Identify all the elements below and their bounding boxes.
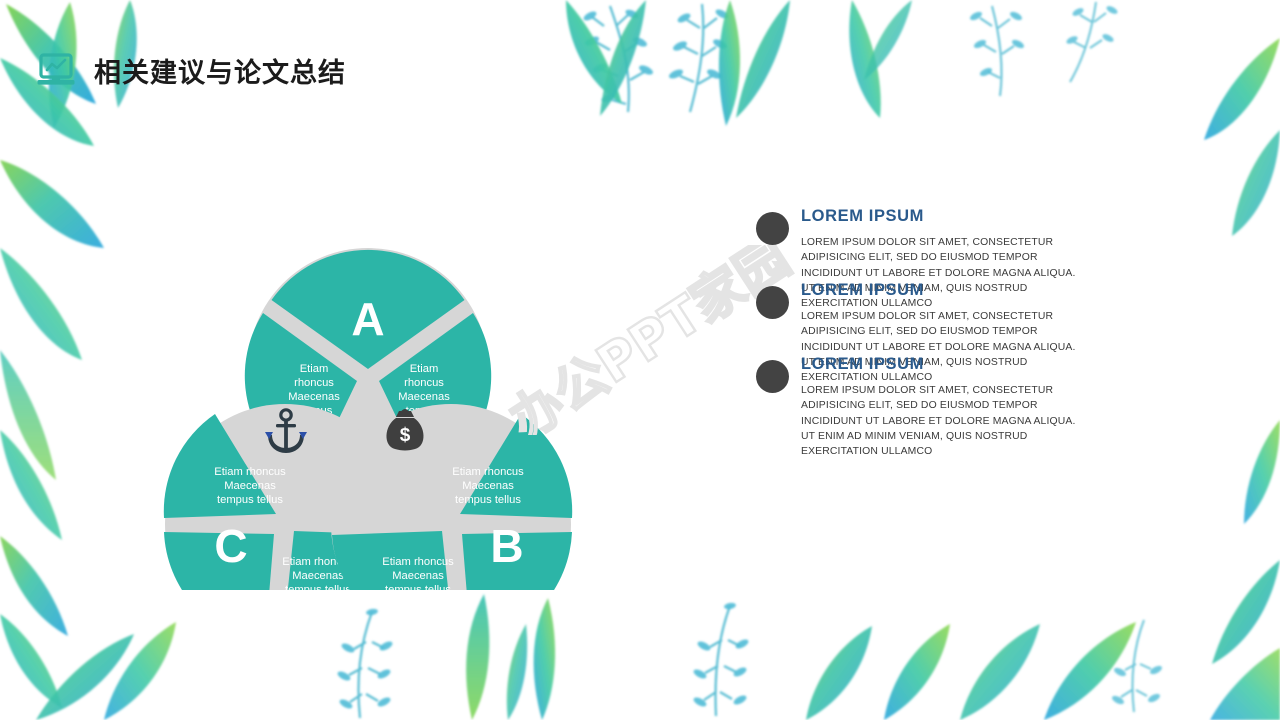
- svg-text:Etiam rhoncus: Etiam rhoncus: [214, 466, 286, 478]
- svg-text:rhoncus: rhoncus: [404, 377, 444, 389]
- circle-c-upper-text: Etiam rhoncus Maecenas tempus tellus: [214, 466, 286, 506]
- svg-text:Maecenas: Maecenas: [462, 480, 514, 492]
- circle-b-letter: B: [490, 520, 523, 572]
- svg-text:tempus tellus: tempus tellus: [385, 584, 451, 590]
- svg-text:tempus tellus: tempus tellus: [455, 494, 521, 506]
- svg-text:Maecenas: Maecenas: [292, 570, 344, 582]
- item-description: LOREM IPSUM DOLOR SIT AMET, CONSECTETUR …: [801, 383, 1061, 459]
- svg-text:Maecenas: Maecenas: [392, 570, 444, 582]
- svg-text:Etiam rhoncus: Etiam rhoncus: [452, 466, 524, 478]
- list-item[interactable]: LOREM IPSUM LOREM IPSUM DOLOR SIT AMET, …: [756, 281, 1226, 319]
- svg-text:Etiam: Etiam: [410, 363, 439, 375]
- svg-text:Etiam: Etiam: [300, 363, 329, 375]
- svg-text:Maecenas: Maecenas: [224, 480, 276, 492]
- laptop-chart-icon: [34, 48, 78, 92]
- item-title: LOREM IPSUM: [801, 355, 1061, 374]
- item-list: LOREM IPSUM LOREM IPSUM DOLOR SIT AMET, …: [756, 207, 1226, 429]
- svg-text:tempus tellus: tempus tellus: [217, 494, 283, 506]
- list-item[interactable]: LOREM IPSUM LOREM IPSUM DOLOR SIT AMET, …: [756, 207, 1226, 245]
- page-header: 相关建议与论文总结: [34, 48, 346, 92]
- three-circle-infographic: A Etiam rhoncus Maecenas tempus tellus E…: [118, 150, 618, 590]
- svg-text:$: $: [400, 425, 411, 446]
- svg-text:Maecenas: Maecenas: [288, 391, 340, 403]
- circle-b-lower-text: Etiam rhoncus Maecenas tempus tellus: [382, 556, 454, 590]
- item-title: LOREM IPSUM: [801, 207, 1061, 226]
- svg-text:rhoncus: rhoncus: [294, 377, 334, 389]
- circle-a-letter: A: [351, 293, 384, 345]
- item-title: LOREM IPSUM: [801, 281, 1061, 300]
- svg-text:tempus tellus: tempus tellus: [285, 584, 351, 590]
- circle-c-letter: C: [214, 520, 247, 572]
- bullet-dot-icon: [756, 360, 789, 393]
- svg-text:Etiam rhoncus: Etiam rhoncus: [382, 556, 454, 568]
- page-title: 相关建议与论文总结: [94, 51, 346, 90]
- slide-canvas: 相关建议与论文总结 A Etiam rhoncus Maecenas tempu…: [0, 0, 1280, 720]
- svg-text:Maecenas: Maecenas: [398, 391, 450, 403]
- bullet-dot-icon: [756, 286, 789, 319]
- circle-b-upper-text: Etiam rhoncus Maecenas tempus tellus: [452, 466, 524, 506]
- list-item[interactable]: LOREM IPSUM LOREM IPSUM DOLOR SIT AMET, …: [756, 355, 1226, 393]
- bullet-dot-icon: [756, 212, 789, 245]
